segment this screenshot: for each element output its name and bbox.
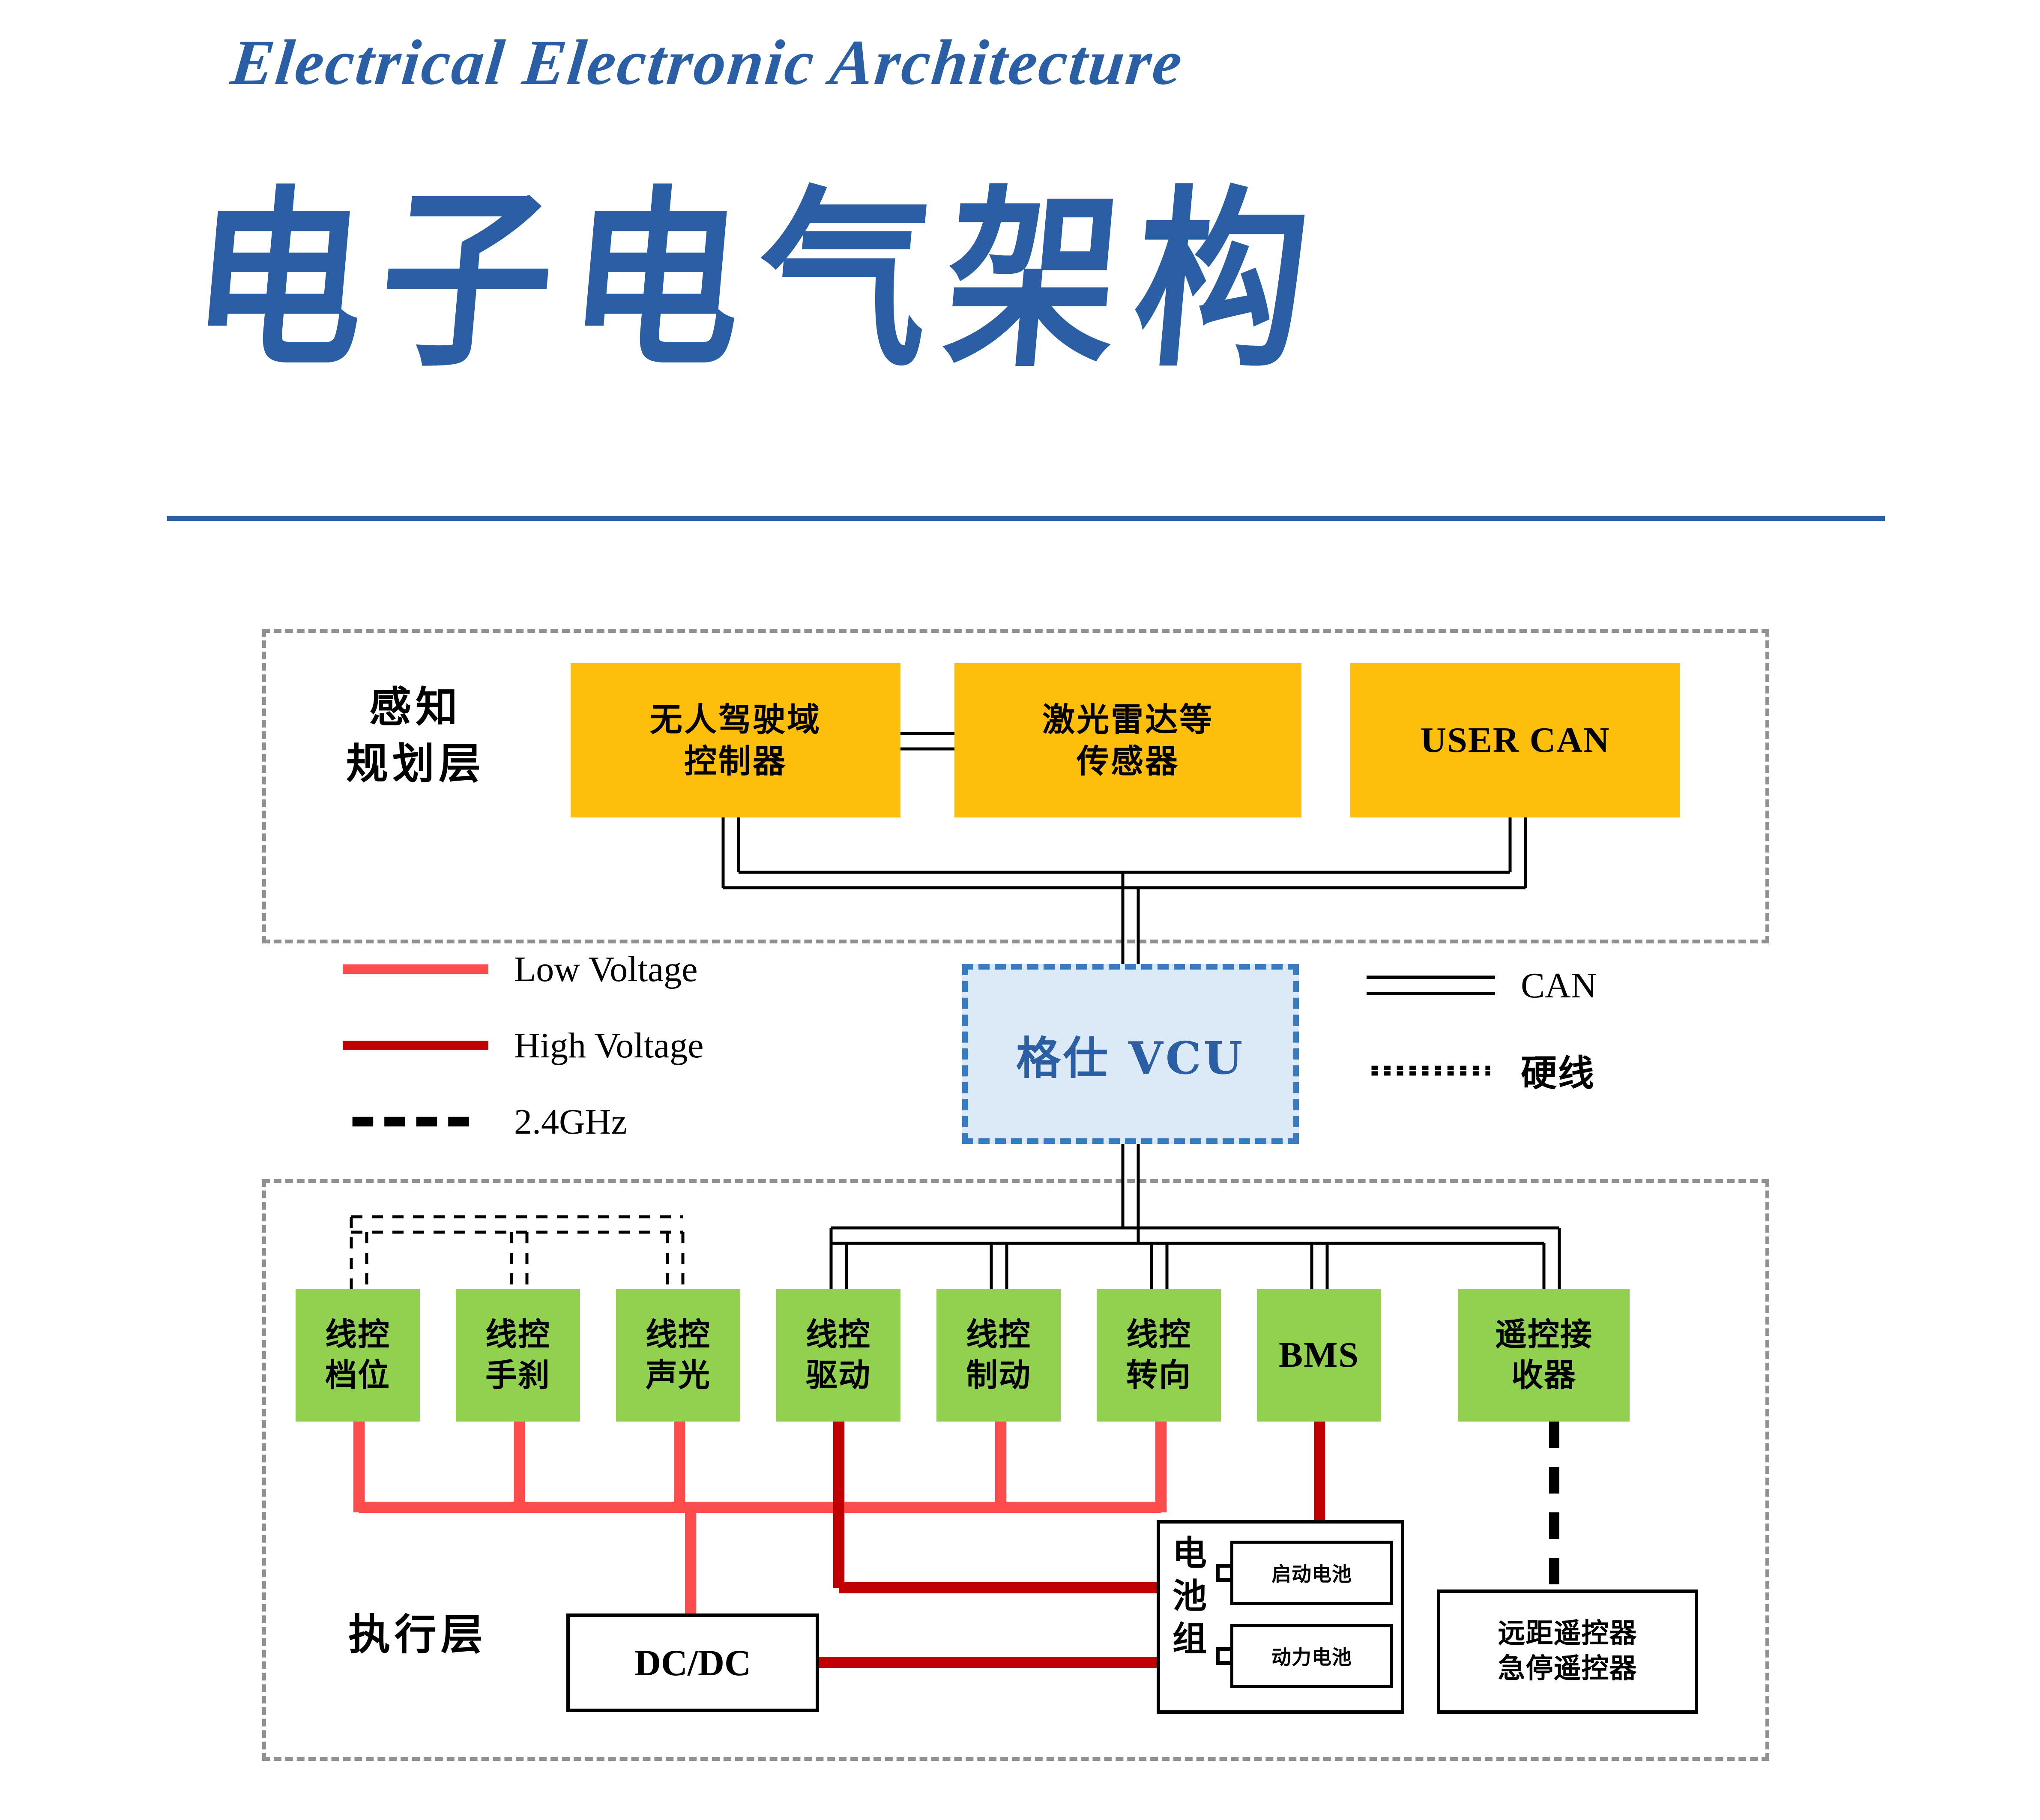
legend-item-rf-24ghz: 2.4GHz [343, 1100, 627, 1143]
node-drive-by-wire-gear[interactable]: 线控 档位 [296, 1289, 420, 1422]
legend-item-high-voltage: High Voltage [343, 1024, 704, 1067]
node-bms[interactable]: BMS [1257, 1289, 1381, 1422]
node-dcdc[interactable]: DC/DC [566, 1613, 819, 1712]
node-remote-receiver[interactable]: 遥控接 收器 [1458, 1289, 1630, 1422]
legend-item-low-voltage: Low Voltage [343, 948, 698, 991]
legend-item-hardwire: 硬线 [1367, 1045, 1595, 1096]
node-drive-by-wire-steering[interactable]: 线控 转向 [1097, 1289, 1221, 1422]
node-drive-by-wire-light-sound[interactable]: 线控 声光 [616, 1289, 740, 1422]
legend-swatch-can [1367, 964, 1495, 1007]
header-divider [167, 516, 1885, 521]
node-starter-battery[interactable]: 启动电池 [1230, 1541, 1393, 1605]
legend-swatch-high-voltage [343, 1024, 488, 1067]
battery-pack-label: 电 池 组 [1171, 1532, 1208, 1661]
legend-swatch-hardwire [1367, 1049, 1495, 1092]
legend-swatch-rf-24ghz [343, 1100, 488, 1143]
node-vcu[interactable]: 格仕 VCU [962, 964, 1299, 1144]
chinese-title: 电子电气架构 [185, 184, 1332, 376]
execution-layer-label: 执行层 [326, 1607, 510, 1663]
english-title: Electrical Electronic Architecture [227, 26, 1187, 99]
legend-label-can: CAN [1521, 965, 1597, 1006]
legend-label-high-voltage: High Voltage [514, 1025, 704, 1066]
node-remote-controllers[interactable]: 远距遥控器 急停遥控器 [1437, 1590, 1698, 1714]
legend-label-low-voltage: Low Voltage [514, 949, 698, 990]
node-drive-by-wire-drive[interactable]: 线控 驱动 [776, 1289, 900, 1422]
legend-item-can: CAN [1367, 964, 1597, 1007]
legend-swatch-low-voltage [343, 948, 488, 991]
node-drive-by-wire-brake[interactable]: 线控 制动 [936, 1289, 1061, 1422]
legend-label-hardwire: 硬线 [1521, 1045, 1595, 1096]
diagram-page: Electrical Electronic Architecture 电子电气架… [0, 0, 2040, 1820]
node-autonomous-domain-controller[interactable]: 无人驾驶域 控制器 [571, 663, 900, 817]
perception-layer-label: 感知 规划层 [326, 679, 506, 793]
node-user-can[interactable]: USER CAN [1350, 663, 1680, 817]
node-lidar-sensors[interactable]: 激光雷达等 传感器 [954, 663, 1301, 817]
legend-label-rf-24ghz: 2.4GHz [514, 1101, 627, 1143]
node-drive-by-wire-handbrake[interactable]: 线控 手刹 [456, 1289, 580, 1422]
node-traction-battery[interactable]: 动力电池 [1230, 1624, 1393, 1688]
